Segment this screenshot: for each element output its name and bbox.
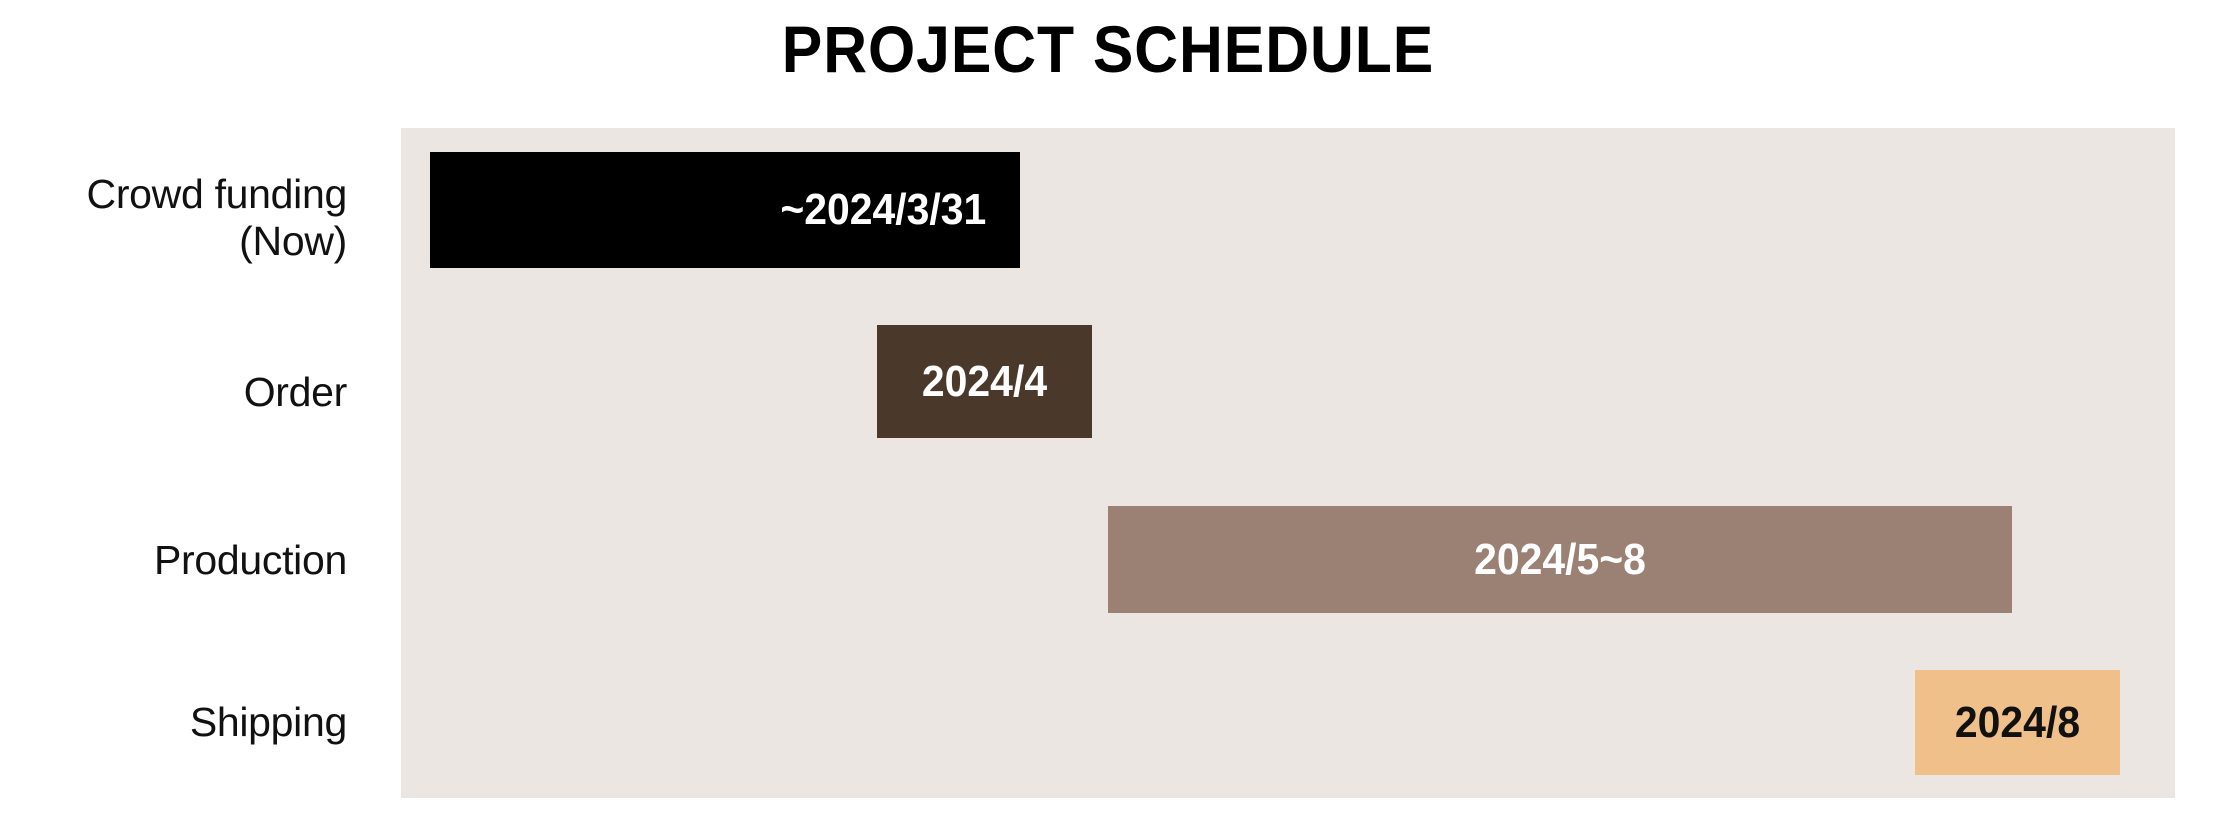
gantt-bar-production[interactable]: 2024/5~8 <box>1108 506 2012 613</box>
gantt-chart-panel: ~2024/3/31 2024/4 2024/5~8 2024/8 <box>401 128 2175 798</box>
row-label-line: Order <box>244 369 347 416</box>
gantt-bar-label: 2024/8 <box>1922 698 2113 748</box>
gantt-bar-label: 2024/5~8 <box>1140 535 1981 585</box>
row-label-line: (Now) <box>239 218 347 265</box>
row-label-line: Crowd funding <box>87 171 347 218</box>
row-label-shipping: Shipping <box>0 648 347 798</box>
gantt-bar-crowd-funding[interactable]: ~2024/3/31 <box>430 152 1020 268</box>
gantt-bar-order[interactable]: 2024/4 <box>877 325 1092 438</box>
row-label-line: Shipping <box>190 699 347 746</box>
page-title: PROJECT SCHEDULE <box>89 16 2128 82</box>
row-label-column: Crowd funding (Now) Order Production Shi… <box>0 128 347 798</box>
row-label-production: Production <box>0 480 347 642</box>
gantt-bar-shipping[interactable]: 2024/8 <box>1915 670 2120 775</box>
row-label-order: Order <box>0 313 347 473</box>
gantt-bar-label: ~2024/3/31 <box>451 185 1000 235</box>
row-label-line: Production <box>154 537 347 584</box>
row-label-crowd-funding: Crowd funding (Now) <box>0 128 347 308</box>
gantt-bar-label: 2024/4 <box>885 357 1085 407</box>
